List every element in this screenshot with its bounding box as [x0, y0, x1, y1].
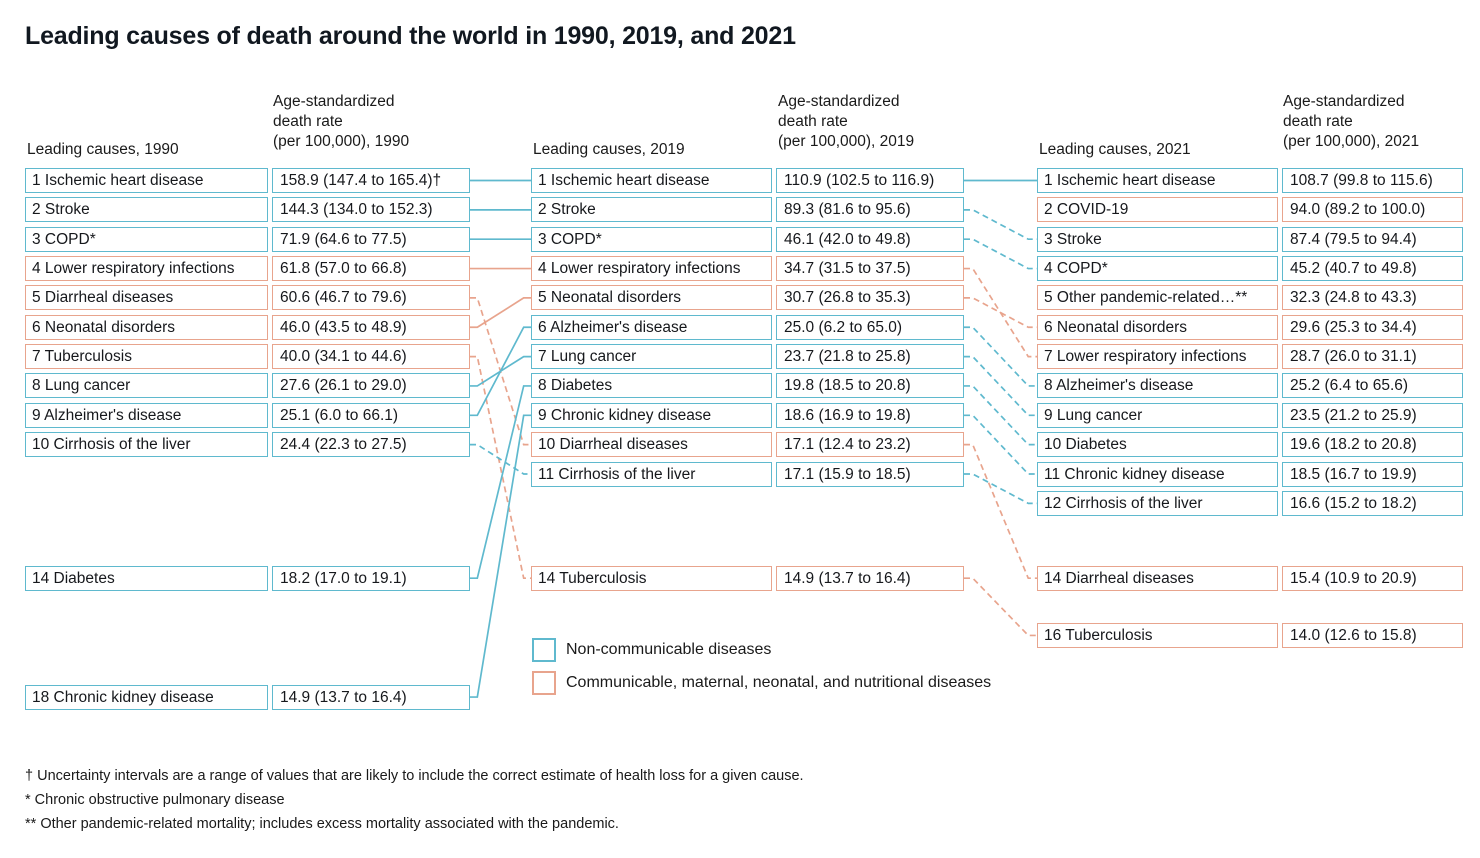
column-header-causes-1990: Leading causes, 1990 — [27, 140, 179, 160]
footnote-copd: * Chronic obstructive pulmonary disease — [25, 790, 285, 810]
legend-label-communicable: Communicable, maternal, neonatal, and nu… — [566, 673, 991, 693]
rate-cell: 23.5 (21.2 to 25.9) — [1282, 403, 1463, 428]
rate-cell: 144.3 (134.0 to 152.3) — [272, 197, 470, 222]
cause-cell: 2 Stroke — [25, 197, 268, 222]
cause-cell: 9 Alzheimer's disease — [25, 403, 268, 428]
rate-cell: 60.6 (46.7 to 79.6) — [272, 285, 470, 310]
footnote-pandemic: ** Other pandemic-related mortality; inc… — [25, 814, 619, 834]
cause-cell: 14 Diabetes — [25, 566, 268, 591]
cause-cell: 11 Chronic kidney disease — [1037, 462, 1278, 487]
rate-cell: 14.9 (13.7 to 16.4) — [272, 685, 470, 710]
cause-cell: 3 COPD* — [531, 227, 772, 252]
column-header-rate-2019: Age-standardized death rate (per 100,000… — [778, 92, 914, 152]
footnote-uncertainty: † Uncertainty intervals are a range of v… — [25, 766, 804, 786]
cause-cell: 7 Tuberculosis — [25, 344, 268, 369]
cause-cell: 12 Cirrhosis of the liver — [1037, 491, 1278, 516]
rate-cell: 40.0 (34.1 to 44.6) — [272, 344, 470, 369]
cause-cell: 8 Lung cancer — [25, 373, 268, 398]
rate-cell: 28.7 (26.0 to 31.1) — [1282, 344, 1463, 369]
cause-cell: 16 Tuberculosis — [1037, 623, 1278, 648]
column-header-causes-2021: Leading causes, 2021 — [1039, 140, 1191, 160]
cause-cell: 8 Diabetes — [531, 373, 772, 398]
cause-cell: 9 Chronic kidney disease — [531, 403, 772, 428]
column-header-causes-2019: Leading causes, 2019 — [533, 140, 685, 160]
cause-cell: 3 COPD* — [25, 227, 268, 252]
rate-cell: 25.1 (6.0 to 66.1) — [272, 403, 470, 428]
cause-cell: 7 Lower respiratory infections — [1037, 344, 1278, 369]
cause-cell: 2 Stroke — [531, 197, 772, 222]
cause-cell: 2 COVID-19 — [1037, 197, 1278, 222]
rate-cell: 110.9 (102.5 to 116.9) — [776, 168, 964, 193]
cause-cell: 5 Diarrheal diseases — [25, 285, 268, 310]
rate-cell: 19.8 (18.5 to 20.8) — [776, 373, 964, 398]
rate-cell: 14.9 (13.7 to 16.4) — [776, 566, 964, 591]
rate-cell: 17.1 (12.4 to 23.2) — [776, 432, 964, 457]
rate-cell: 18.6 (16.9 to 19.8) — [776, 403, 964, 428]
column-header-rate-1990: Age-standardized death rate (per 100,000… — [273, 92, 409, 152]
cause-cell: 6 Neonatal disorders — [1037, 315, 1278, 340]
cause-cell: 10 Diarrheal diseases — [531, 432, 772, 457]
rate-cell: 29.6 (25.3 to 34.4) — [1282, 315, 1463, 340]
rate-cell: 45.2 (40.7 to 49.8) — [1282, 256, 1463, 281]
legend-label-ncd: Non-communicable diseases — [566, 640, 771, 660]
rate-cell: 19.6 (18.2 to 20.8) — [1282, 432, 1463, 457]
rate-cell: 25.2 (6.4 to 65.6) — [1282, 373, 1463, 398]
cause-cell: 4 Lower respiratory infections — [25, 256, 268, 281]
connector-lines — [0, 0, 1480, 858]
rate-cell: 15.4 (10.9 to 20.9) — [1282, 566, 1463, 591]
rate-cell: 46.1 (42.0 to 49.8) — [776, 227, 964, 252]
rate-cell: 32.3 (24.8 to 43.3) — [1282, 285, 1463, 310]
rate-cell: 89.3 (81.6 to 95.6) — [776, 197, 964, 222]
rate-cell: 18.5 (16.7 to 19.9) — [1282, 462, 1463, 487]
cause-cell: 9 Lung cancer — [1037, 403, 1278, 428]
cause-cell: 1 Ischemic heart disease — [25, 168, 268, 193]
cause-cell: 10 Cirrhosis of the liver — [25, 432, 268, 457]
rate-cell: 17.1 (15.9 to 18.5) — [776, 462, 964, 487]
cause-cell: 10 Diabetes — [1037, 432, 1278, 457]
cause-cell: 14 Tuberculosis — [531, 566, 772, 591]
rate-cell: 18.2 (17.0 to 19.1) — [272, 566, 470, 591]
rate-cell: 158.9 (147.4 to 165.4)† — [272, 168, 470, 193]
rate-cell: 16.6 (15.2 to 18.2) — [1282, 491, 1463, 516]
cause-cell: 6 Neonatal disorders — [25, 315, 268, 340]
cause-cell: 1 Ischemic heart disease — [531, 168, 772, 193]
rate-cell: 94.0 (89.2 to 100.0) — [1282, 197, 1463, 222]
rate-cell: 27.6 (26.1 to 29.0) — [272, 373, 470, 398]
page-title: Leading causes of death around the world… — [25, 22, 796, 51]
rate-cell: 108.7 (99.8 to 115.6) — [1282, 168, 1463, 193]
cause-cell: 11 Cirrhosis of the liver — [531, 462, 772, 487]
rate-cell: 23.7 (21.8 to 25.8) — [776, 344, 964, 369]
rate-cell: 25.0 (6.2 to 65.0) — [776, 315, 964, 340]
rate-cell: 30.7 (26.8 to 35.3) — [776, 285, 964, 310]
cause-cell: 18 Chronic kidney disease — [25, 685, 268, 710]
rate-cell: 71.9 (64.6 to 77.5) — [272, 227, 470, 252]
column-header-rate-2021: Age-standardized death rate (per 100,000… — [1283, 92, 1419, 152]
legend-swatch-ncd — [532, 638, 556, 662]
legend-swatch-communicable — [532, 671, 556, 695]
rate-cell: 24.4 (22.3 to 27.5) — [272, 432, 470, 457]
rate-cell: 87.4 (79.5 to 94.4) — [1282, 227, 1463, 252]
cause-cell: 6 Alzheimer's disease — [531, 315, 772, 340]
rate-cell: 61.8 (57.0 to 66.8) — [272, 256, 470, 281]
cause-cell: 5 Other pandemic-related…** — [1037, 285, 1278, 310]
rate-cell: 14.0 (12.6 to 15.8) — [1282, 623, 1463, 648]
cause-cell: 7 Lung cancer — [531, 344, 772, 369]
rate-cell: 34.7 (31.5 to 37.5) — [776, 256, 964, 281]
cause-cell: 1 Ischemic heart disease — [1037, 168, 1278, 193]
cause-cell: 5 Neonatal disorders — [531, 285, 772, 310]
cause-cell: 8 Alzheimer's disease — [1037, 373, 1278, 398]
rate-cell: 46.0 (43.5 to 48.9) — [272, 315, 470, 340]
cause-cell: 4 Lower respiratory infections — [531, 256, 772, 281]
cause-cell: 14 Diarrheal diseases — [1037, 566, 1278, 591]
cause-cell: 4 COPD* — [1037, 256, 1278, 281]
cause-cell: 3 Stroke — [1037, 227, 1278, 252]
